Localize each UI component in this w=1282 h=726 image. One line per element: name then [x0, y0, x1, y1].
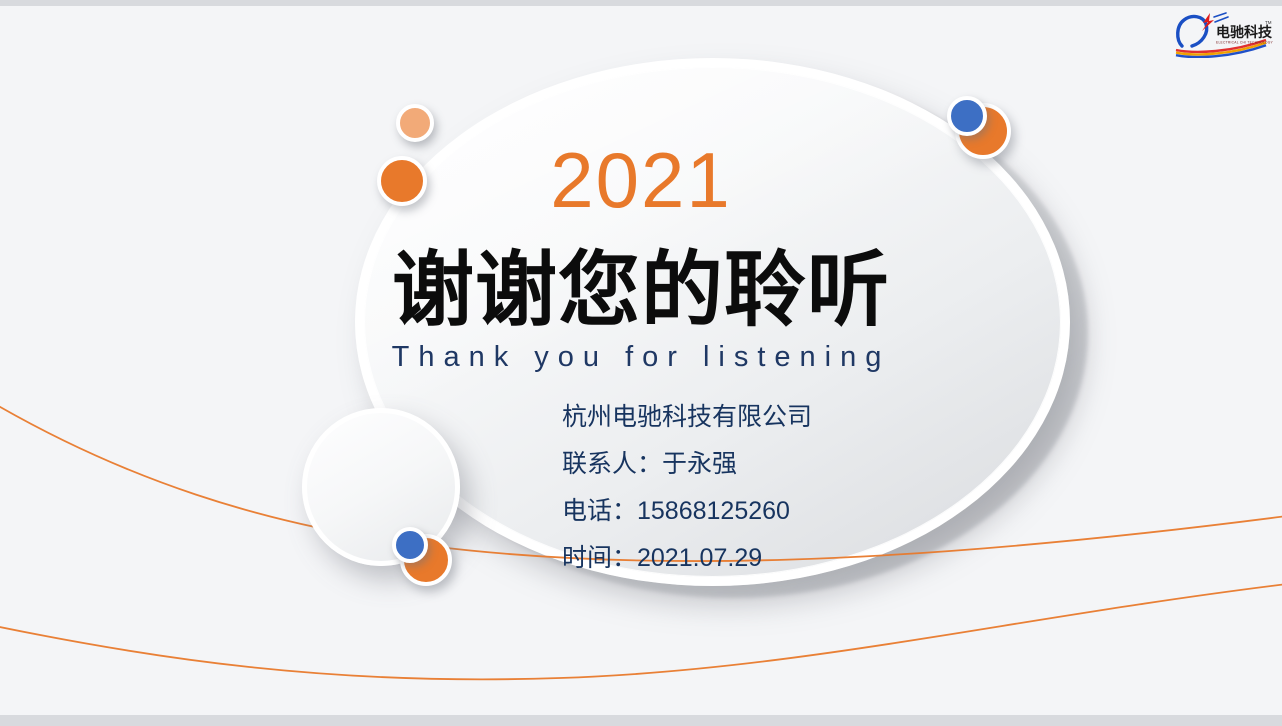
contact-company: 杭州电驰科技有限公司	[562, 394, 1032, 441]
contact-block: 杭州电驰科技有限公司 联系人：于永强 电话：15868125260 时间：202…	[562, 394, 1032, 582]
logo-name-en: ELECTRICAL CHI TECHNOLOGY	[1216, 41, 1274, 45]
slide-year: 2021	[0, 141, 1282, 219]
viewer-chrome-bottom	[0, 715, 1282, 726]
circle-blue-top-right	[947, 96, 987, 136]
contact-person: 联系人：于永强	[562, 441, 1032, 488]
slide-headline-english: Thank you for listening	[0, 342, 1282, 374]
contact-phone: 电话：15868125260	[562, 488, 1032, 535]
slide-canvas: 2021 谢谢您的聆听 Thank you for listening 杭州电驰…	[0, 6, 1282, 715]
circle-peach-top-left	[396, 104, 434, 142]
circle-blue-bottom-left	[392, 527, 428, 563]
curve-lower	[0, 584, 1282, 679]
slide-viewer: 2021 谢谢您的聆听 Thank you for listening 杭州电驰…	[0, 0, 1282, 726]
logo-trademark: TM	[1265, 20, 1272, 25]
logo-name-cn: 电驰科技	[1216, 24, 1273, 41]
company-logo: 电驰科技 ELECTRICAL CHI TECHNOLOGY TM	[1170, 10, 1274, 58]
slide-headline-chinese: 谢谢您的聆听	[0, 250, 1282, 332]
contact-date: 时间：2021.07.29	[562, 535, 1032, 582]
